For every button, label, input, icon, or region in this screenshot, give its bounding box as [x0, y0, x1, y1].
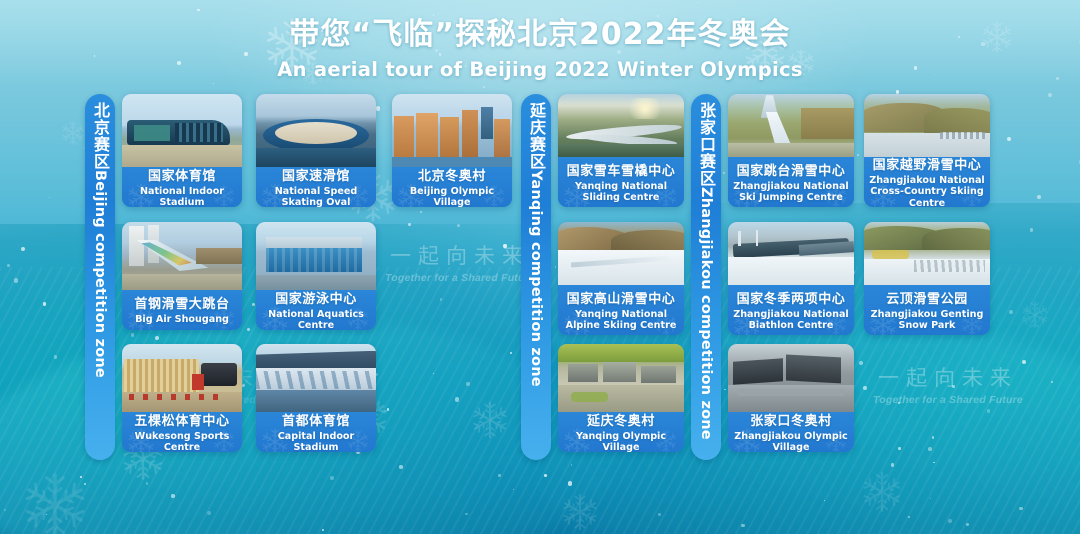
- snow-particle: [433, 373, 434, 374]
- venue-card[interactable]: 延庆冬奥村 Yanqing Olympic Village: [558, 344, 684, 452]
- venue-card[interactable]: 国家游泳中心 National Aquatics Centre: [256, 222, 376, 330]
- venue-photo: [728, 222, 854, 285]
- venue-photo: [122, 344, 242, 412]
- venue-name-cn: 国家雪车雪橇中心: [567, 160, 676, 179]
- venue-name-cn: 国家速滑馆: [282, 167, 350, 184]
- snow-particle: [14, 278, 18, 282]
- snow-particle: [544, 474, 547, 477]
- venue-name-cn: 北京冬奥村: [418, 167, 486, 184]
- snow-particle: [1030, 228, 1033, 231]
- venue-name-cn: 首都体育馆: [282, 412, 350, 429]
- venue-name-en: Zhangjiakou National Ski Jumping Centre: [731, 181, 851, 204]
- venue-card[interactable]: 张家口冬奥村 Zhangjiakou Olympic Village: [728, 344, 854, 452]
- venue-photo: [864, 94, 990, 157]
- venue-photo: [256, 94, 376, 167]
- venue-name-cn: 延庆冬奥村: [587, 412, 655, 429]
- venue-card[interactable]: 国家体育馆 National Indoor Stadium: [122, 94, 242, 207]
- venue-name-en: Zhangjiakou Olympic Village: [731, 431, 851, 452]
- snow-particle: [171, 494, 175, 498]
- snow-particle: [131, 333, 135, 337]
- venue-name-en: Wukesong Sports Centre: [125, 431, 239, 452]
- snow-particle: [247, 328, 250, 331]
- venue-caption: 张家口冬奥村 Zhangjiakou Olympic Village: [728, 412, 854, 452]
- venue-caption: 国家雪车雪橇中心 Yanqing National Sliding Centre: [558, 157, 684, 207]
- snow-particle: [952, 385, 954, 387]
- venue-card[interactable]: 国家跳台滑雪中心 Zhangjiakou National Ski Jumpin…: [728, 94, 854, 207]
- venue-caption: 首都体育馆 Capital Indoor Stadium: [256, 412, 376, 452]
- venue-card[interactable]: 首钢滑雪大跳台 Big Air Shougang: [122, 222, 242, 330]
- zone-label-en: Yanqing competition zone: [528, 170, 544, 387]
- venue-photo: [256, 222, 376, 290]
- venue-photo: [122, 94, 242, 167]
- venue-card[interactable]: 北京冬奥村 Beijing Olympic Village: [392, 94, 512, 207]
- snow-particle: [513, 489, 514, 490]
- venue-name-en: National Indoor Stadium: [125, 186, 239, 207]
- venue-name-en: Big Air Shougang: [135, 314, 229, 325]
- snowflake-icon: [860, 470, 904, 519]
- venue-photo: [864, 222, 990, 285]
- venue-name-cn: 国家冬季两项中心: [737, 288, 846, 307]
- zone-bar-label: 延庆赛区Yanqing competition zone: [524, 102, 548, 387]
- snow-particle: [49, 197, 50, 198]
- snow-particle: [724, 389, 725, 390]
- snow-particle: [465, 513, 467, 515]
- snowflake-icon: [470, 400, 510, 445]
- venue-photo: [728, 344, 854, 412]
- snowflake-icon: [20, 470, 90, 534]
- zone-label-cn: 延庆赛区: [527, 102, 546, 170]
- venue-name-cn: 国家游泳中心: [275, 290, 357, 307]
- snow-particle: [498, 474, 500, 476]
- venue-photo: [558, 222, 684, 285]
- snowflake-icon: [560, 492, 600, 534]
- snow-particle: [207, 511, 211, 515]
- venue-photo: [558, 344, 684, 412]
- snow-particle: [863, 386, 867, 390]
- snow-particle: [155, 336, 159, 340]
- snow-particle: [1019, 507, 1023, 511]
- venue-caption: 国家游泳中心 National Aquatics Centre: [256, 290, 376, 330]
- venue-name-en: National Speed Skating Oval: [259, 186, 373, 207]
- venue-card[interactable]: 国家越野滑雪中心 Zhangjiakou National Cross-Coun…: [864, 94, 990, 207]
- venue-card[interactable]: 国家速滑馆 National Speed Skating Oval: [256, 94, 376, 207]
- venue-caption: 国家体育馆 National Indoor Stadium: [122, 167, 242, 207]
- zone-bar-zhangjiakou[interactable]: 张家口赛区Zhangjiakou competition zone: [691, 94, 721, 460]
- snowflake-icon: [60, 120, 86, 151]
- venue-caption: 北京冬奥村 Beijing Olympic Village: [392, 167, 512, 207]
- zone-bar-label: 北京赛区Beijing competition zone: [88, 102, 112, 378]
- venue-caption: 五棵松体育中心 Wukesong Sports Centre: [122, 412, 242, 452]
- venue-caption: 延庆冬奥村 Yanqing Olympic Village: [558, 412, 684, 452]
- venue-card[interactable]: 首都体育馆 Capital Indoor Stadium: [256, 344, 376, 452]
- venue-name-en: Zhangjiakou National Cross-Country Skiin…: [867, 175, 987, 207]
- venue-caption: 国家越野滑雪中心 Zhangjiakou National Cross-Coun…: [864, 157, 990, 207]
- venue-photo: [558, 94, 684, 157]
- venue-name-en: Yanqing Olympic Village: [561, 431, 681, 452]
- venue-card[interactable]: 国家雪车雪橇中心 Yanqing National Sliding Centre: [558, 94, 684, 207]
- venue-card[interactable]: 国家冬季两项中心 Zhangjiakou National Biathlon C…: [728, 222, 854, 335]
- snow-particle: [824, 500, 825, 501]
- venue-caption: 国家高山滑雪中心 Yanqing National Alpine Skiing …: [558, 285, 684, 335]
- zone-bar-beijing[interactable]: 北京赛区Beijing competition zone: [85, 94, 115, 460]
- venue-name-cn: 国家跳台滑雪中心: [737, 160, 846, 179]
- zone-bar-label: 张家口赛区Zhangjiakou competition zone: [694, 102, 718, 440]
- venue-name-cn: 首钢滑雪大跳台: [134, 293, 229, 312]
- venue-name-en: National Aquatics Centre: [259, 309, 373, 330]
- zone-label-en: Zhangjiakou competition zone: [698, 187, 714, 440]
- venue-photo: [256, 344, 376, 412]
- venue-name-en: Yanqing National Alpine Skiing Centre: [561, 309, 681, 332]
- zone-label-en: Beijing competition zone: [92, 170, 108, 378]
- snow-particle: [376, 106, 380, 110]
- venue-caption: 首钢滑雪大跳台 Big Air Shougang: [122, 290, 242, 330]
- snow-particle: [7, 264, 10, 267]
- snow-particle: [933, 462, 934, 463]
- venue-name-en: Yanqing National Sliding Centre: [561, 181, 681, 204]
- zone-label-cn: 张家口赛区: [697, 102, 716, 187]
- venue-name-cn: 国家高山滑雪中心: [567, 288, 676, 307]
- venue-caption: 云顶滑雪公园 Zhangjiakou Genting Snow Park: [864, 285, 990, 335]
- venue-photo: [122, 222, 242, 290]
- venue-card[interactable]: 五棵松体育中心 Wukesong Sports Centre: [122, 344, 242, 452]
- zone-label-cn: 北京赛区: [91, 102, 110, 170]
- venue-caption: 国家跳台滑雪中心 Zhangjiakou National Ski Jumpin…: [728, 157, 854, 207]
- venue-photo: [392, 94, 512, 167]
- snow-particle: [1022, 360, 1026, 364]
- snow-particle: [252, 303, 255, 306]
- snow-particle: [466, 382, 470, 386]
- snow-particle: [399, 465, 403, 469]
- venue-card[interactable]: 云顶滑雪公园 Zhangjiakou Genting Snow Park: [864, 222, 990, 335]
- snow-particle: [987, 409, 990, 412]
- poster-canvas: 一起向未来 Together for a Shared Future 一起向未来…: [0, 0, 1080, 534]
- snow-particle: [857, 154, 859, 156]
- venue-name-cn: 国家越野滑雪中心: [873, 157, 982, 173]
- venue-name-cn: 张家口冬奥村: [750, 412, 832, 429]
- venue-name-en: Zhangjiakou Genting Snow Park: [867, 309, 987, 332]
- venue-photo: [728, 94, 854, 157]
- venue-name-cn: 云顶滑雪公园: [886, 288, 968, 307]
- page-header: 带您“飞临”探秘北京2022年冬奥会 An aerial tour of Bei…: [0, 6, 1080, 84]
- venue-name-cn: 五棵松体育中心: [134, 412, 229, 429]
- venue-card[interactable]: 国家高山滑雪中心 Yanqing National Alpine Skiing …: [558, 222, 684, 335]
- snow-particle: [483, 86, 485, 88]
- snow-particle: [330, 476, 334, 480]
- snow-particle: [503, 244, 506, 247]
- venue-name-en: Zhangjiakou National Biathlon Centre: [731, 309, 851, 332]
- venue-caption: 国家速滑馆 National Speed Skating Oval: [256, 167, 376, 207]
- page-title-cn: 带您“飞临”探秘北京2022年冬奥会: [290, 9, 791, 53]
- venue-name-en: Capital Indoor Stadium: [259, 431, 373, 452]
- venue-name-cn: 国家体育馆: [148, 167, 216, 184]
- snow-particle: [21, 247, 25, 251]
- zone-bar-yanqing[interactable]: 延庆赛区Yanqing competition zone: [521, 94, 551, 460]
- snow-particle: [457, 224, 460, 227]
- snow-particle: [891, 463, 895, 467]
- page-title-en: An aerial tour of Beijing 2022 Winter Ol…: [277, 58, 803, 81]
- venue-caption: 国家冬季两项中心 Zhangjiakou National Biathlon C…: [728, 285, 854, 335]
- snow-particle: [1048, 93, 1052, 97]
- snowflake-icon: [1020, 300, 1050, 335]
- venue-name-en: Beijing Olympic Village: [395, 186, 509, 207]
- snow-particle: [1009, 310, 1013, 314]
